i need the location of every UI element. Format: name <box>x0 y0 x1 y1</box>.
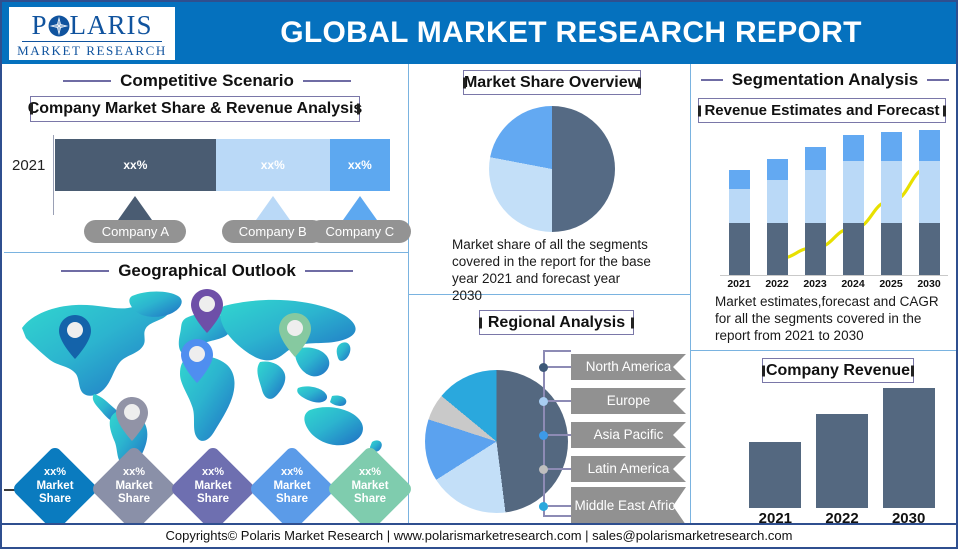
market-share-overview-box-title: Market Share Overview <box>463 70 641 95</box>
segmentation-segment-base <box>805 223 826 275</box>
pin-europe-north <box>190 288 224 339</box>
region-dot-0 <box>539 363 548 372</box>
market-share-segment-b: xx% <box>216 139 330 191</box>
company-revenue-bar-2022 <box>816 414 868 508</box>
market-share-diamond-label-3: xx%MarketShare <box>255 466 329 507</box>
bracket-tick-right <box>911 365 914 376</box>
segmentation-segment-mid <box>805 170 826 222</box>
heading-rule-right <box>303 80 351 82</box>
company-revenue-bar-2021 <box>749 442 801 508</box>
box-title-text: Company Market Share & Revenue Analysis <box>28 100 363 118</box>
report-infographic: P LARIS MARKET RESEARCH GLOBAL MARKET RE… <box>0 0 958 549</box>
segmentation-segment-mid <box>843 161 864 223</box>
segmentation-bar-2025 <box>881 132 902 275</box>
segmentation-segment-top <box>919 130 940 161</box>
segmentation-segment-mid <box>881 161 902 223</box>
bracket-tick-left <box>30 104 33 115</box>
region-connector-0 <box>548 366 571 368</box>
company-market-share-box-title: Company Market Share & Revenue Analysis <box>30 96 360 122</box>
region-ribbon-0[interactable]: North America <box>571 354 686 380</box>
bracket-tick-right <box>631 317 634 328</box>
regional-analysis-pie <box>425 370 568 513</box>
company-triangle-c <box>343 196 377 220</box>
segmentation-segment-base <box>843 223 864 275</box>
market-share-segment-a: xx% <box>55 139 216 191</box>
bracket-tick-left <box>698 105 701 116</box>
logo-letter-p: P <box>31 10 47 40</box>
pin-north-america <box>58 314 92 365</box>
competitive-year-label: 2021 <box>12 157 45 174</box>
logo-wordmark: P LARIS <box>9 10 175 40</box>
bracket-tick-right <box>357 104 360 115</box>
pin-europe-africa <box>180 338 214 389</box>
segmentation-year-2024: 2024 <box>837 278 869 290</box>
box-title-text: Market Share Overview <box>464 74 640 92</box>
market-share-diamond-label-0: xx%MarketShare <box>18 466 92 507</box>
bracket-tick-left <box>479 317 482 328</box>
segmentation-segment-top <box>729 170 750 189</box>
competitive-scenario-heading: Competitive Scenario <box>22 68 392 94</box>
heading-rule-left <box>701 79 723 81</box>
heading-rule-left <box>61 270 109 272</box>
box-title-text: Regional Analysis <box>488 314 625 332</box>
market-share-segment-c: xx% <box>330 139 390 191</box>
segmentation-year-2030: 2030 <box>913 278 945 290</box>
revenue-estimates-box-title: Revenue Estimates and Forecast <box>698 98 946 123</box>
footer-copyright: Copyrights© Polaris Market Research | ww… <box>2 523 956 547</box>
heading-rule-right <box>305 270 353 272</box>
page-title: GLOBAL MARKET RESEARCH REPORT <box>182 2 958 64</box>
bracket-tick-right <box>638 77 641 88</box>
pin-asia-pacific <box>278 312 312 363</box>
region-connector-4 <box>548 505 571 507</box>
region-connector-1 <box>548 400 571 402</box>
segmentation-segment-mid <box>767 180 788 223</box>
panel-divider-right <box>690 64 691 529</box>
market-share-diamond-label-2: xx%MarketShare <box>176 466 250 507</box>
segmentation-bar-2024 <box>843 135 864 275</box>
region-ribbon-2[interactable]: Asia Pacific <box>571 422 686 448</box>
pin-south-america <box>115 396 149 447</box>
segmentation-caption: Market estimates,forecast and CAGR for a… <box>715 293 953 344</box>
panel-divider-left <box>408 64 409 529</box>
segmentation-axis <box>720 275 948 276</box>
segmentation-segment-base <box>881 223 902 275</box>
page-header: P LARIS MARKET RESEARCH GLOBAL MARKET RE… <box>2 2 958 64</box>
compass-star-icon <box>48 13 70 35</box>
world-map <box>10 284 402 464</box>
heading-text: Geographical Outlook <box>118 261 296 281</box>
logo-tagline: MARKET RESEARCH <box>9 43 175 58</box>
company-pill-c: Company C <box>309 220 411 243</box>
segmentation-year-2021: 2021 <box>723 278 755 290</box>
market-share-diamond-label-4: xx%MarketShare <box>333 466 407 507</box>
region-dot-2 <box>539 431 548 440</box>
company-revenue-bar-2030 <box>883 388 935 508</box>
regional-spine-top <box>543 350 571 352</box>
region-dot-3 <box>539 465 548 474</box>
company-market-share-bar: xx%xx%xx% <box>55 139 390 191</box>
heading-rule-right <box>927 79 949 81</box>
heading-rule-left <box>63 80 111 82</box>
region-ribbon-3[interactable]: Latin America <box>571 456 686 482</box>
company-revenue-chart <box>742 388 942 508</box>
logo-letters-rest: LARIS <box>70 10 153 40</box>
region-connector-3 <box>548 468 571 470</box>
logo-divider <box>22 41 162 42</box>
heading-text: Competitive Scenario <box>120 71 294 91</box>
box-title-text: Company Revenue <box>766 362 910 380</box>
region-dot-1 <box>539 397 548 406</box>
segmentation-segment-top <box>767 159 788 180</box>
regional-analysis-box-title: Regional Analysis <box>479 310 634 335</box>
segmentation-segment-top <box>805 147 826 171</box>
segmentation-year-2023: 2023 <box>799 278 831 290</box>
revenue-estimates-forecast-chart <box>720 130 948 275</box>
panel-divider-competitive <box>4 252 408 253</box>
market-share-overview-pie <box>489 106 615 232</box>
region-connector-2 <box>548 434 571 436</box>
region-ribbon-1[interactable]: Europe <box>571 388 686 414</box>
bracket-tick-right <box>943 105 946 116</box>
polaris-logo: P LARIS MARKET RESEARCH <box>8 6 176 61</box>
heading-text: Segmentation Analysis <box>732 70 918 90</box>
segmentation-segment-base <box>767 223 788 275</box>
company-triangle-a <box>118 196 152 220</box>
segmentation-segment-mid <box>919 161 940 223</box>
regional-spine-bottom <box>543 515 571 517</box>
segmentation-segment-base <box>919 223 940 275</box>
panel-divider-segmentation <box>690 350 958 351</box>
segmentation-year-2022: 2022 <box>761 278 793 290</box>
segmentation-year-2025: 2025 <box>875 278 907 290</box>
bracket-tick-left <box>463 77 466 88</box>
bracket-tick-left <box>762 365 765 376</box>
segmentation-segment-top <box>843 135 864 161</box>
segmentation-bar-2030 <box>919 130 940 275</box>
market-share-diamond-label-1: xx%MarketShare <box>97 466 171 507</box>
segmentation-segment-base <box>729 223 750 275</box>
company-revenue-box-title: Company Revenue <box>762 358 914 383</box>
competitive-axis <box>53 135 54 215</box>
box-title-text: Revenue Estimates and Forecast <box>704 102 939 119</box>
segmentation-bar-2021 <box>729 170 750 275</box>
geographical-outlook-heading: Geographical Outlook <box>22 258 392 284</box>
segmentation-analysis-heading: Segmentation Analysis <box>696 68 954 92</box>
company-pill-a: Company A <box>84 220 186 243</box>
market-share-caption: Market share of all the segments covered… <box>452 236 652 304</box>
segmentation-bar-2022 <box>767 159 788 275</box>
segmentation-segment-top <box>881 132 902 161</box>
company-triangle-b <box>256 196 290 220</box>
region-ribbon-4[interactable]: Middle East Africa <box>571 487 686 525</box>
segmentation-bar-2023 <box>805 147 826 275</box>
region-dot-4 <box>539 502 548 511</box>
segmentation-segment-mid <box>729 189 750 222</box>
